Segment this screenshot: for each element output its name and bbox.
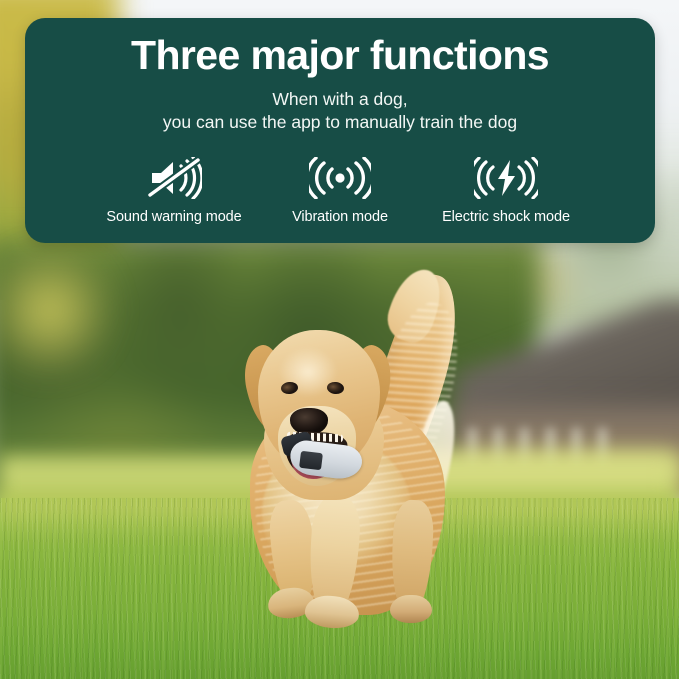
- dog-head-highlight: [274, 342, 348, 412]
- page-title: Three major functions: [49, 34, 631, 77]
- mode-label-sound-warning: Sound warning mode: [106, 209, 241, 225]
- electric-shock-bolt-icon: [474, 156, 538, 200]
- mode-label-electric-shock: Electric shock mode: [442, 209, 570, 225]
- mode-label-vibration: Vibration mode: [292, 209, 388, 225]
- product-feature-image: Three major functions When with a dog, y…: [0, 0, 679, 679]
- page-subtitle: When with a dog, you can use the app to …: [49, 88, 631, 134]
- vibration-waves-icon: [309, 156, 371, 200]
- dog-back-paw: [390, 595, 432, 623]
- subtitle-line-2: you can use the app to manually train th…: [163, 112, 517, 132]
- features-card: Three major functions When with a dog, y…: [25, 18, 655, 243]
- modes-row: Sound warning mode Vibration mode: [91, 156, 589, 225]
- mode-item-sound-warning: Sound warning mode: [91, 156, 257, 225]
- mode-item-vibration: Vibration mode: [257, 156, 423, 225]
- subtitle-line-1: When with a dog,: [272, 89, 407, 109]
- speaker-muted-icon: [146, 156, 202, 200]
- collar-device-module: [299, 451, 323, 471]
- mode-item-electric-shock: Electric shock mode: [423, 156, 589, 225]
